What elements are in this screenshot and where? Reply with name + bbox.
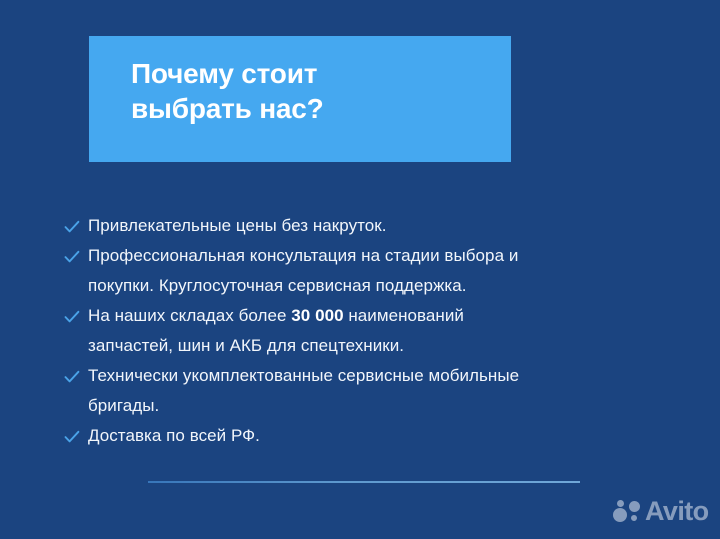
check-icon [64, 421, 88, 451]
avito-dot-small [617, 500, 624, 507]
benefit-item: Профессиональная консультация на стадии … [64, 241, 674, 271]
title-panel: Почему стоит выбрать нас? [89, 36, 511, 162]
benefit-item: Технически укомплектованные сервисные мо… [64, 361, 674, 391]
check-icon [64, 361, 88, 391]
avito-watermark: Avito [613, 498, 709, 525]
benefit-item: Привлекательные цены без накруток. [64, 211, 674, 241]
spacer [64, 271, 88, 301]
check-icon [64, 211, 88, 241]
avito-dot-tiny [631, 515, 637, 521]
benefit-text: Технически укомплектованные сервисные мо… [88, 361, 674, 390]
avito-dot-large [613, 508, 627, 522]
spacer [64, 391, 88, 421]
benefit-item: Доставка по всей РФ. [64, 421, 674, 451]
benefit-text: бригады. [88, 391, 674, 420]
benefits-list: Привлекательные цены без накруток.Профес… [64, 211, 674, 451]
benefit-item-continuation: бригады. [64, 391, 674, 421]
benefit-text: покупки. Круглосуточная сервисная поддер… [88, 271, 674, 300]
slide-canvas: Почему стоит выбрать нас? Привлекательны… [0, 0, 720, 539]
avito-dot-medium [629, 501, 640, 512]
footer-divider [148, 481, 580, 483]
benefit-highlight: 30 000 [291, 306, 343, 325]
benefit-item-continuation: запчастей, шин и АКБ для спецтехники. [64, 331, 674, 361]
page-title-line-2: выбрать нас? [131, 91, 483, 126]
avito-logo-icon [613, 499, 643, 525]
check-icon [64, 241, 88, 271]
spacer [64, 331, 88, 361]
benefit-text: запчастей, шин и АКБ для спецтехники. [88, 331, 674, 360]
benefit-text: На наших складах более 30 000 наименован… [88, 301, 674, 330]
benefit-text: Привлекательные цены без накруток. [88, 211, 674, 240]
avito-wordmark: Avito [645, 498, 709, 525]
benefit-text: Профессиональная консультация на стадии … [88, 241, 674, 270]
benefit-item-continuation: покупки. Круглосуточная сервисная поддер… [64, 271, 674, 301]
page-title-line-1: Почему стоит [131, 56, 483, 91]
check-icon [64, 301, 88, 331]
benefit-text: Доставка по всей РФ. [88, 421, 674, 450]
benefit-item: На наших складах более 30 000 наименован… [64, 301, 674, 331]
